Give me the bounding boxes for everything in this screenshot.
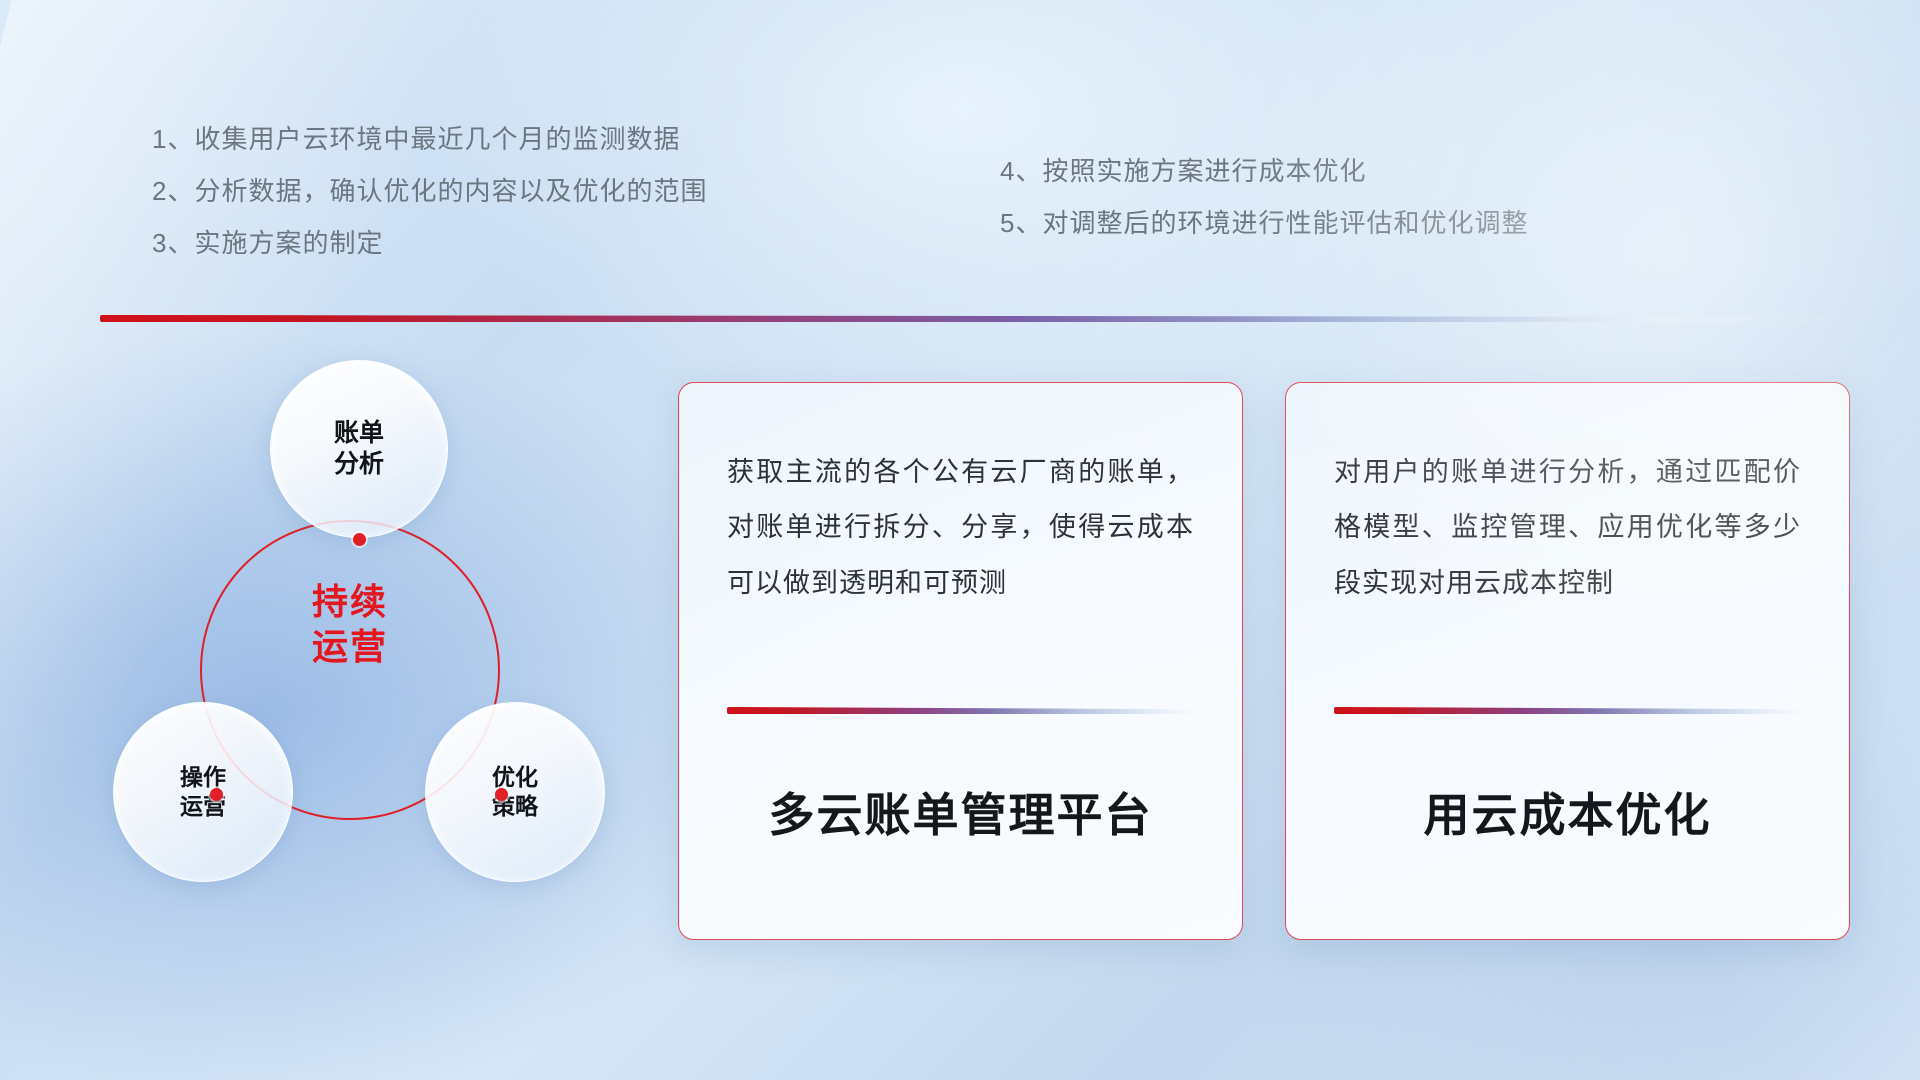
bubble-label-line-2: 分析: [334, 449, 384, 480]
step-item: 3、实施方案的制定: [152, 230, 707, 256]
info-card-cloud-cost-optimization[interactable]: 对用户的账单进行分析，通过匹配价格模型、监控管理、应用优化等多少段实现对用云成本…: [1285, 382, 1850, 940]
connector-dot-icon: [210, 788, 223, 801]
venn-bubble-optimization-strategy[interactable]: 优化 策略: [425, 702, 605, 882]
card-body-text: 获取主流的各个公有云厂商的账单，对账单进行拆分、分享，使得云成本可以做到透明和可…: [727, 445, 1194, 673]
steps-left-column: 1、收集用户云环境中最近几个月的监测数据 2、分析数据，确认优化的内容以及优化的…: [152, 126, 707, 256]
venn-bubble-bill-analysis[interactable]: 账单 分析: [270, 360, 448, 538]
section-divider: [100, 315, 1860, 322]
bubble-label-line-1: 账单: [334, 418, 384, 449]
step-item: 4、按照实施方案进行成本优化: [1000, 158, 1528, 184]
venn-center-line-2: 运营: [200, 625, 500, 670]
connector-dot-icon: [495, 788, 508, 801]
card-title: 用云成本优化: [1334, 788, 1801, 843]
connector-dot-icon: [353, 533, 366, 546]
venn-center-label: 持续 运营: [200, 580, 500, 669]
slide-canvas: 1、收集用户云环境中最近几个月的监测数据 2、分析数据，确认优化的内容以及优化的…: [0, 0, 1920, 1080]
step-item: 1、收集用户云环境中最近几个月的监测数据: [152, 126, 707, 152]
card-divider: [1334, 707, 1801, 714]
venn-bubble-operations[interactable]: 操作 运营: [113, 702, 293, 882]
step-item: 2、分析数据，确认优化的内容以及优化的范围: [152, 178, 707, 204]
steps-right-column: 4、按照实施方案进行成本优化 5、对调整后的环境进行性能评估和优化调整: [1000, 158, 1528, 236]
card-title: 多云账单管理平台: [727, 788, 1194, 843]
venn-diagram: 持续 运营 账单 分析 操作 运营 优化 策略: [95, 350, 635, 950]
step-item: 5、对调整后的环境进行性能评估和优化调整: [1000, 210, 1528, 236]
info-card-multicloud-billing[interactable]: 获取主流的各个公有云厂商的账单，对账单进行拆分、分享，使得云成本可以做到透明和可…: [678, 382, 1243, 940]
venn-center-line-1: 持续: [200, 580, 500, 625]
card-body-text: 对用户的账单进行分析，通过匹配价格模型、监控管理、应用优化等多少段实现对用云成本…: [1334, 445, 1801, 673]
card-divider: [727, 707, 1194, 714]
